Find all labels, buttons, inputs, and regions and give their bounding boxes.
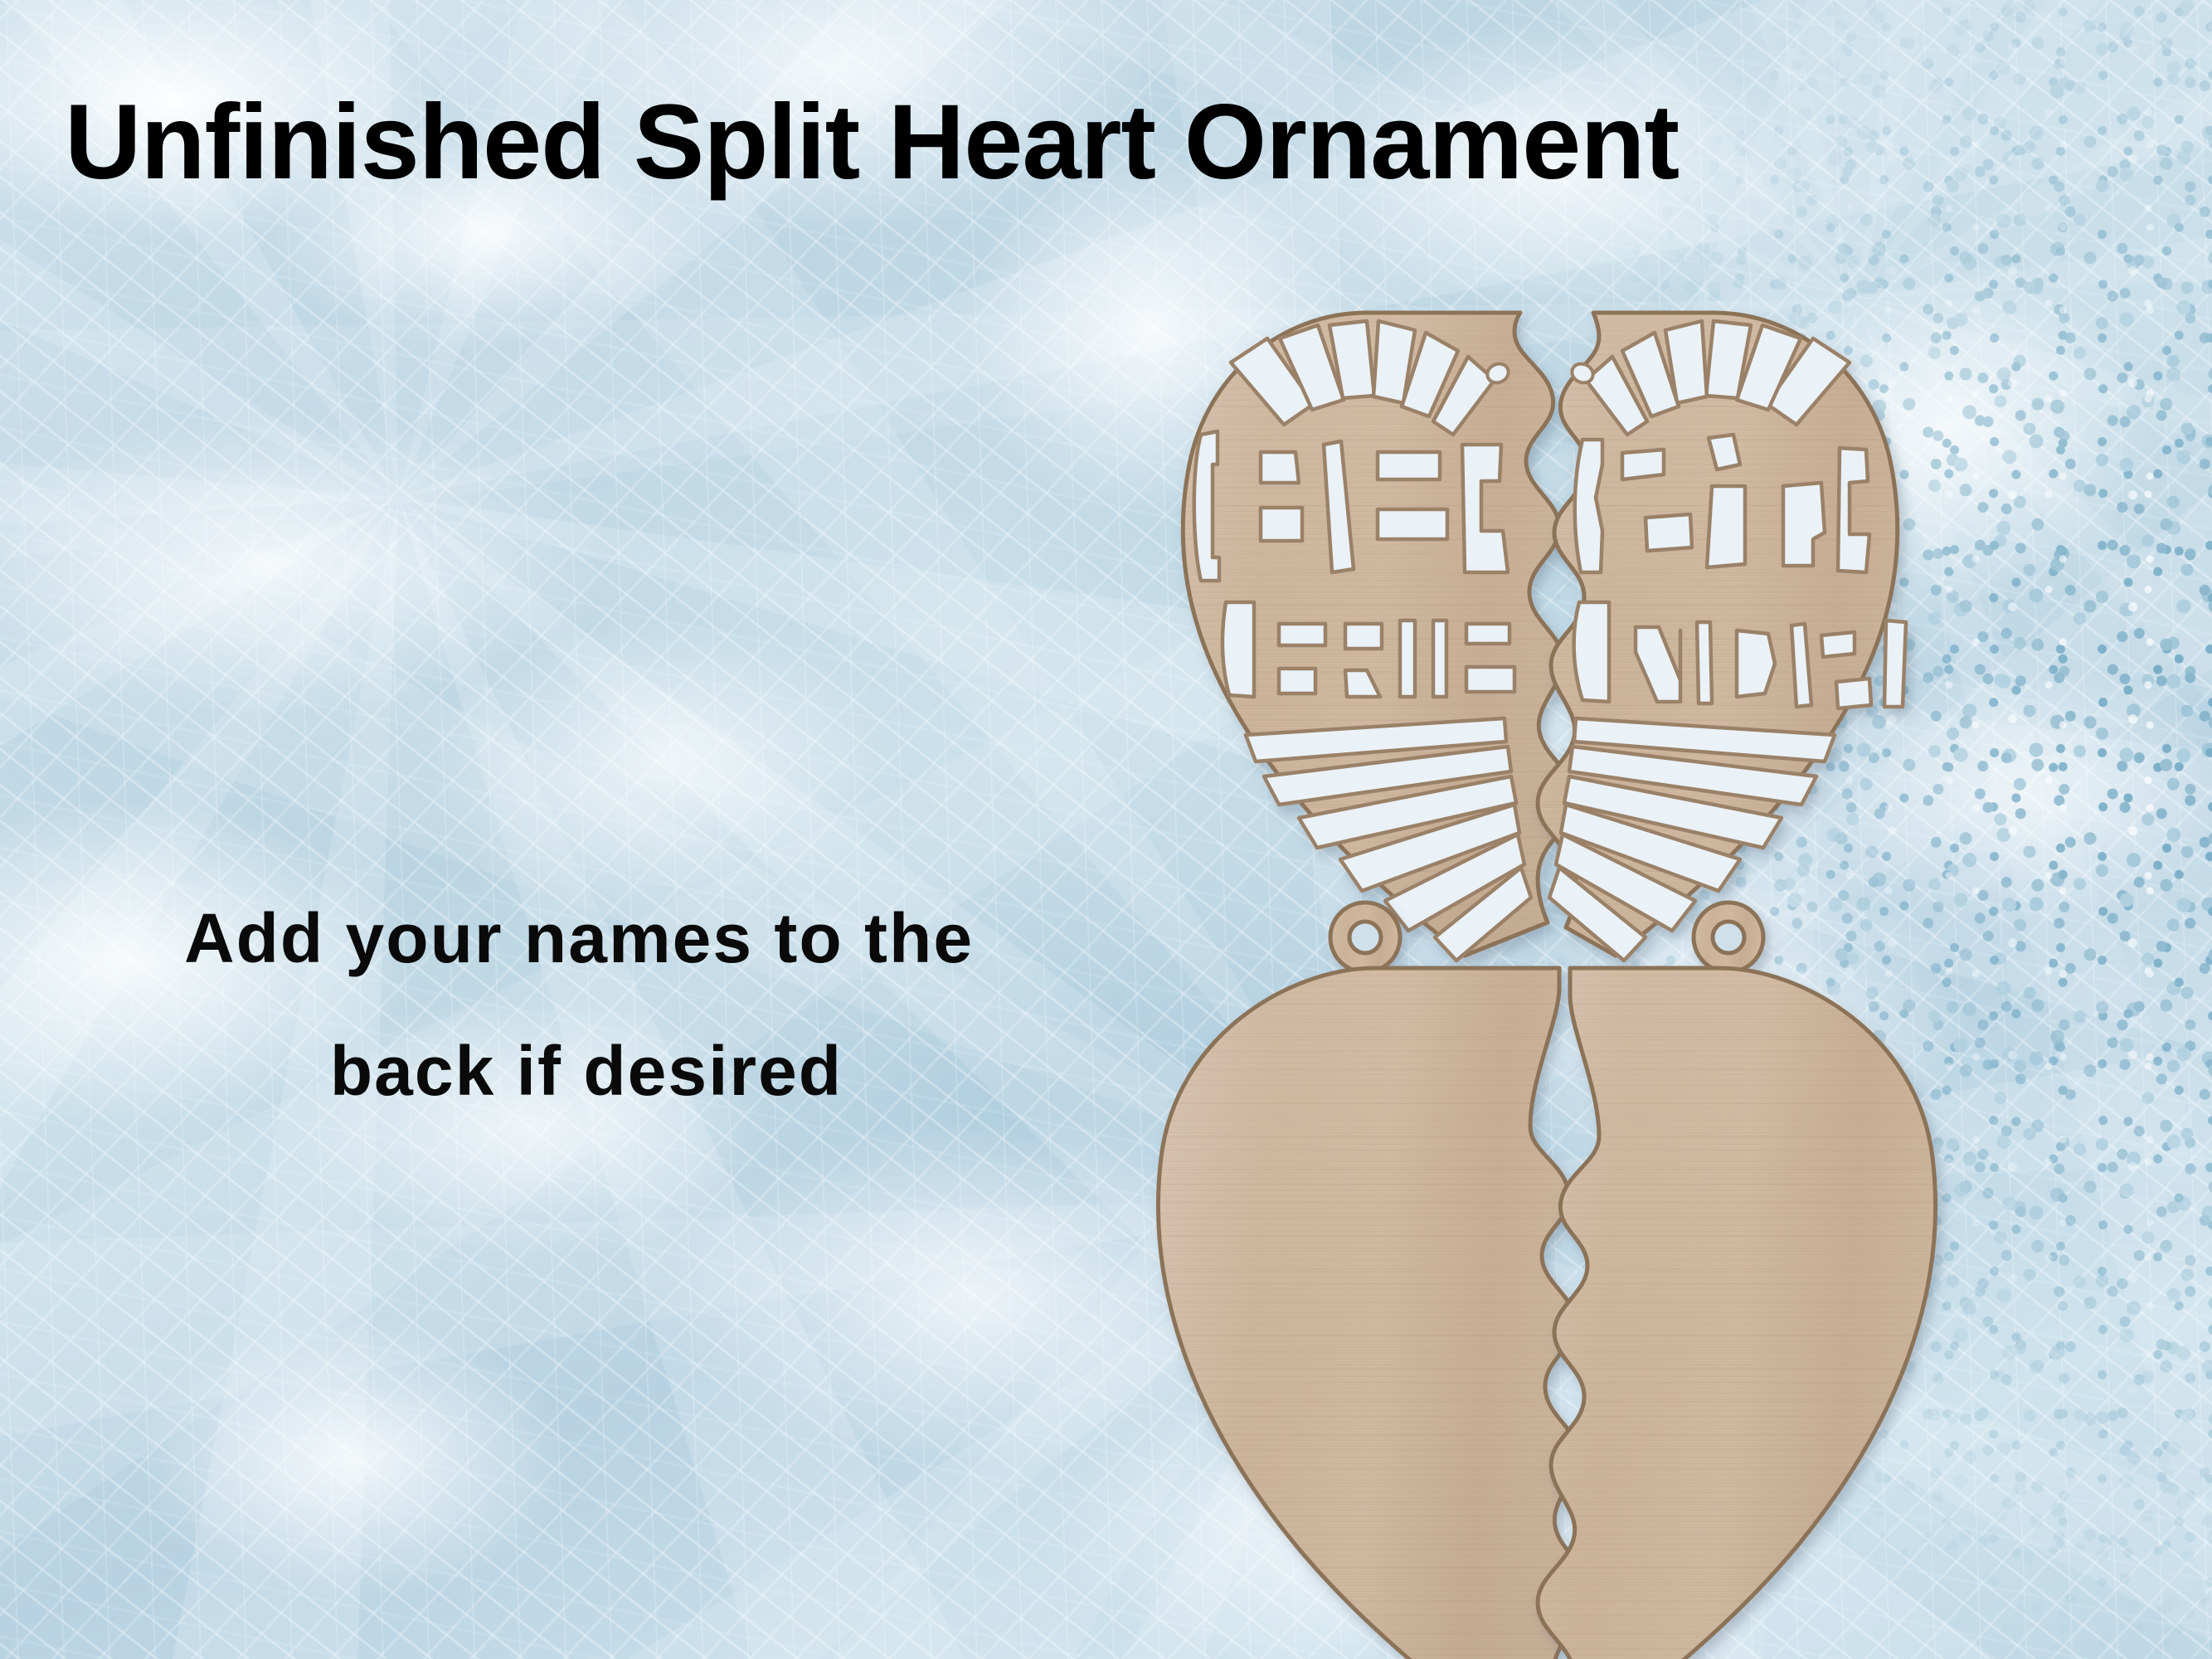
ornament-artwork-group: [0, 0, 2212, 1659]
cutout-heart-right: [1493, 290, 1957, 987]
subtitle-line-2: back if desired: [90, 1005, 1068, 1138]
plain-heart-left: [1145, 902, 1609, 1659]
hanging-loop-left: [1330, 902, 1400, 972]
page-title: Unfinished Split Heart Ornament: [65, 90, 1679, 196]
hanging-loop-right: [1694, 902, 1763, 972]
product-image-canvas: Unfinished Split Heart Ornament Add your…: [0, 0, 2212, 1659]
cutout-heart-left: [1145, 290, 1609, 987]
subtitle-note: Add your names to the back if desired: [90, 873, 1068, 1137]
subtitle-line-1: Add your names to the: [90, 873, 1068, 1005]
